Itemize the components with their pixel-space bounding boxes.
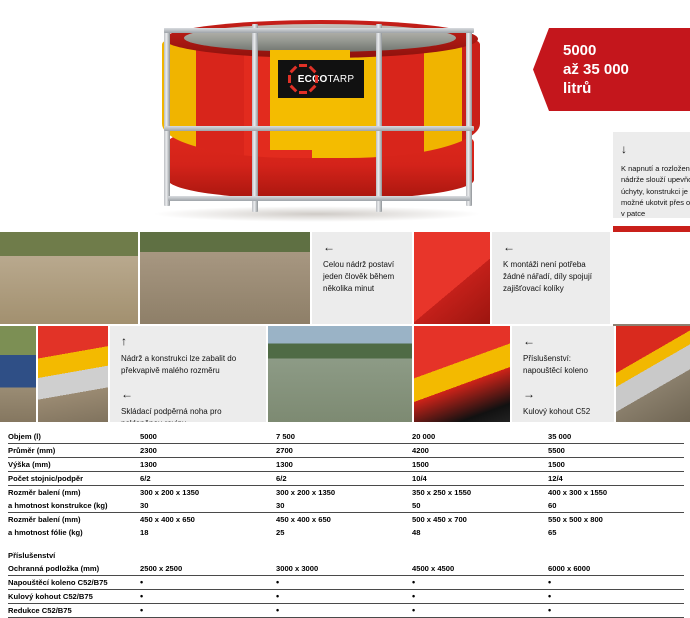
row-value: • (140, 590, 276, 604)
row-value: • (140, 604, 276, 618)
arrow-down-icon: ↓ (621, 140, 690, 158)
row-value: • (412, 590, 548, 604)
row-value: 450 x 400 x 650 (276, 513, 412, 527)
caption-text: K montáži není potřeba žádné nářadí, díl… (503, 259, 600, 295)
row-value: 6/2 (276, 472, 412, 486)
row-value: 500 x 450 x 700 (412, 513, 548, 527)
caption-compact-pack: ↑ Nádrž a konstrukci lze zabalit do přek… (110, 326, 266, 422)
row-value: 7 500 (276, 430, 412, 444)
photo-image (0, 232, 138, 324)
table-row: Počet stojnic/podpěr 6/2 6/2 10/4 12/4 (8, 472, 684, 486)
row-value: 4500 x 4500 (412, 562, 548, 576)
row-value: 60 (548, 499, 684, 513)
photo-tank-by-river (268, 326, 412, 422)
row-value: 5500 (548, 444, 684, 458)
row-label: Redukce C52/B75 (8, 604, 140, 618)
frame-rail-mid (164, 126, 474, 131)
frame-post (164, 28, 170, 206)
caption-one-person: ← Celou nádrž postaví jeden člověk během… (312, 232, 412, 324)
row-label: Počet stojnic/podpěr (8, 472, 140, 486)
row-value: 5000 (140, 430, 276, 444)
row-value: 2500 x 2500 (140, 562, 276, 576)
arrow-left-icon: ← (523, 335, 604, 347)
caption-text: Skládací podpěrná noha pro nakloněnou ro… (121, 406, 256, 422)
caption-anchor-points: ↓ K napnutí a rozložení dna nádrže slouž… (613, 132, 690, 218)
row-value: 300 x 200 x 1350 (276, 486, 412, 500)
water-tank-illustration: ECCOTARP (140, 10, 500, 210)
frame-post (376, 24, 382, 212)
table-row: a hmotnost fólie (kg) 18 25 48 65 (8, 526, 684, 539)
row-value: • (548, 576, 684, 590)
row-label: Výška (mm) (8, 458, 140, 472)
row-value: 30 (276, 499, 412, 513)
eccotarp-logo: ECCOTARP (278, 60, 364, 98)
row-value: 25 (276, 526, 412, 539)
specification-table: Objem (l) 5000 7 500 20 000 35 000 Průmě… (8, 430, 684, 618)
table-row: Napouštěcí koleno C52/B75 • • • • (8, 576, 684, 590)
arrow-left-icon: ← (323, 241, 402, 253)
row-value: 35 000 (548, 430, 684, 444)
row-value: 20 000 (412, 430, 548, 444)
arrow-left-icon: ← (503, 241, 600, 253)
row-value: 1500 (548, 458, 684, 472)
table-row: Průměr (mm) 2300 2700 4200 5500 (8, 444, 684, 458)
row-label: Objem (l) (8, 430, 140, 444)
arrow-up-icon: ↑ (121, 335, 256, 347)
row-value: • (140, 576, 276, 590)
table-row: Rozměr balení (mm) 450 x 400 x 650 450 x… (8, 513, 684, 527)
photo-image (0, 326, 36, 422)
row-value: 6000 x 6000 (548, 562, 684, 576)
photo-packed-tank (0, 232, 138, 324)
row-value: 1500 (412, 458, 548, 472)
row-value: 550 x 500 x 800 (548, 513, 684, 527)
row-value: 3000 x 3000 (276, 562, 412, 576)
photo-image (38, 326, 108, 422)
row-value: • (412, 576, 548, 590)
row-value: 2300 (140, 444, 276, 458)
photo-strip-row-2: ↑ Nádrž a konstrukci lze zabalit do přek… (0, 326, 690, 422)
row-value: 1300 (276, 458, 412, 472)
arrow-right-icon: → (523, 388, 604, 400)
photo-image (268, 326, 412, 422)
row-value: 50 (412, 499, 548, 513)
caption-no-tools: ← K montáži není potřeba žádné nářadí, d… (492, 232, 610, 324)
row-value: 65 (548, 526, 684, 539)
caption-text: Příslušenství: napouštěcí koleno (523, 353, 604, 377)
frame-rail-bottom (168, 196, 470, 201)
photo-sidebar-spacer (612, 232, 690, 324)
row-label: Průměr (mm) (8, 444, 140, 458)
row-value: 6/2 (140, 472, 276, 486)
frame-post (252, 24, 258, 212)
photo-man-folding (0, 326, 36, 422)
row-value: 350 x 250 x 1550 (412, 486, 548, 500)
photo-support-leg (38, 326, 108, 422)
row-value: • (548, 604, 684, 618)
photo-assembly-detail (414, 232, 490, 324)
table-spacer (8, 539, 684, 548)
caption-text: K napnutí a rozložení dna nádrže slouží … (621, 163, 690, 219)
table-row: Rozměr balení (mm) 300 x 200 x 1350 300 … (8, 486, 684, 500)
row-value: 300 x 200 x 1350 (140, 486, 276, 500)
row-value: 30 (140, 499, 276, 513)
photo-strip-row-1: ← Celou nádrž postaví jeden člověk během… (0, 232, 690, 324)
row-value: 2700 (276, 444, 412, 458)
row-label: Kulový kohout C52/B75 (8, 590, 140, 604)
photo-image (414, 326, 510, 422)
row-value: 400 x 300 x 1550 (548, 486, 684, 500)
table-row: a hmotnost konstrukce (kg) 30 30 50 60 (8, 499, 684, 513)
row-label: a hmotnost konstrukce (kg) (8, 499, 140, 513)
table-row: Výška (mm) 1300 1300 1500 1500 (8, 458, 684, 472)
row-value: 10/4 (412, 472, 548, 486)
row-label: Napouštěcí koleno C52/B75 (8, 576, 140, 590)
row-label: a hmotnost fólie (kg) (8, 526, 140, 539)
photo-image (140, 232, 310, 324)
row-value: • (276, 576, 412, 590)
caption-text: Kulový kohout C52 (523, 406, 604, 418)
table-row: Redukce C52/B75 • • • • (8, 604, 684, 618)
accessories-header-row: Příslušenství (8, 548, 684, 562)
product-photo-main: ECCOTARP (92, 0, 542, 228)
row-label: Ochranná podložka (mm) (8, 562, 140, 576)
banner-line-1: 5000 (563, 41, 629, 60)
photo-unfolding-tank (140, 232, 310, 324)
banner-line-3: litrů (563, 79, 629, 98)
row-value: 18 (140, 526, 276, 539)
photo-valve-coupling (616, 326, 690, 422)
hero-section: ECCOTARP 5000 až 35 000 litrů ↓ K napnut… (0, 0, 690, 228)
accessories-title: Příslušenství (8, 548, 140, 562)
table-row: Objem (l) 5000 7 500 20 000 35 000 (8, 430, 684, 444)
caption-accessories: ← Příslušenství: napouštěcí koleno → Kul… (512, 326, 614, 422)
row-value: 12/4 (548, 472, 684, 486)
frame-rail-top (164, 28, 474, 33)
octagon-ring-icon (288, 64, 318, 94)
arrow-left-icon: ← (121, 388, 256, 400)
logo-text-tarp: TARP (327, 74, 354, 85)
row-value: • (276, 590, 412, 604)
row-label: Rozměr balení (mm) (8, 486, 140, 500)
photo-image (414, 232, 490, 324)
frame-post (466, 28, 472, 206)
row-value: 4200 (412, 444, 548, 458)
row-value: • (412, 604, 548, 618)
row-value: 1300 (140, 458, 276, 472)
photo-firefighter (414, 326, 510, 422)
table-row: Kulový kohout C52/B75 • • • • (8, 590, 684, 604)
caption-text: Celou nádrž postaví jeden člověk během n… (323, 259, 402, 295)
row-value: 450 x 400 x 650 (140, 513, 276, 527)
table-row: Ochranná podložka (mm) 2500 x 2500 3000 … (8, 562, 684, 576)
row-value: 48 (412, 526, 548, 539)
photo-image (616, 326, 690, 422)
row-value: • (548, 590, 684, 604)
banner-line-2: až 35 000 (563, 60, 629, 79)
capacity-banner: 5000 až 35 000 litrů (533, 28, 690, 111)
caption-text: Nádrž a konstrukci lze zabalit do překva… (121, 353, 256, 377)
row-label: Rozměr balení (mm) (8, 513, 140, 527)
row-value: • (276, 604, 412, 618)
